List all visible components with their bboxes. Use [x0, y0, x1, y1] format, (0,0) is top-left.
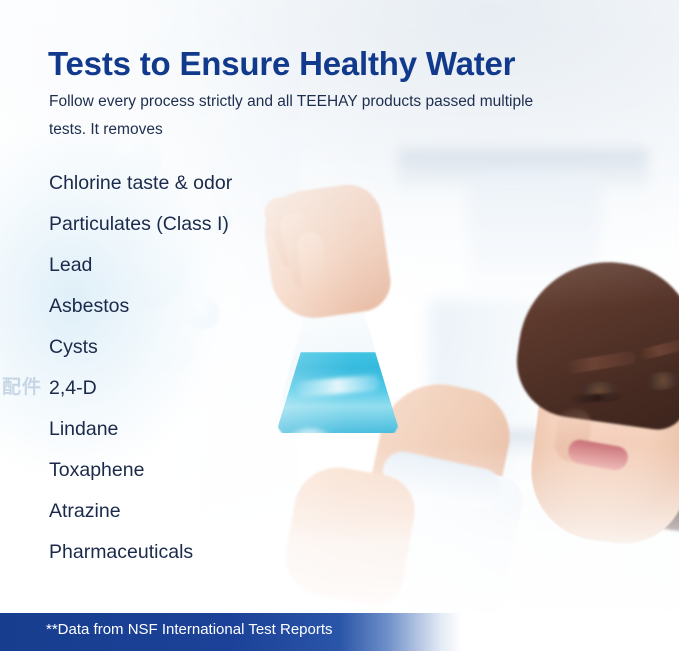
list-item: Atrazine — [49, 496, 369, 537]
page-title: Tests to Ensure Healthy Water — [48, 45, 515, 83]
list-item: Lead — [49, 250, 369, 291]
footer-note: **Data from NSF International Test Repor… — [46, 621, 333, 638]
list-item: Chlorine taste & odor — [49, 168, 369, 209]
list-item: Toxaphene — [49, 455, 369, 496]
contaminant-list: Chlorine taste & odor Particulates (Clas… — [49, 168, 369, 578]
list-item: 2,4-D — [49, 373, 369, 414]
list-item: Pharmaceuticals — [49, 537, 369, 578]
content-layer: Tests to Ensure Healthy Water Follow eve… — [0, 0, 679, 655]
page-subtitle: Follow every process strictly and all TE… — [49, 88, 569, 144]
water-test-infographic: 配件 Tests to Ensure Healthy Water Follow … — [0, 0, 679, 655]
list-item: Cysts — [49, 332, 369, 373]
list-item: Particulates (Class I) — [49, 209, 369, 250]
list-item: Asbestos — [49, 291, 369, 332]
list-item: Lindane — [49, 414, 369, 455]
